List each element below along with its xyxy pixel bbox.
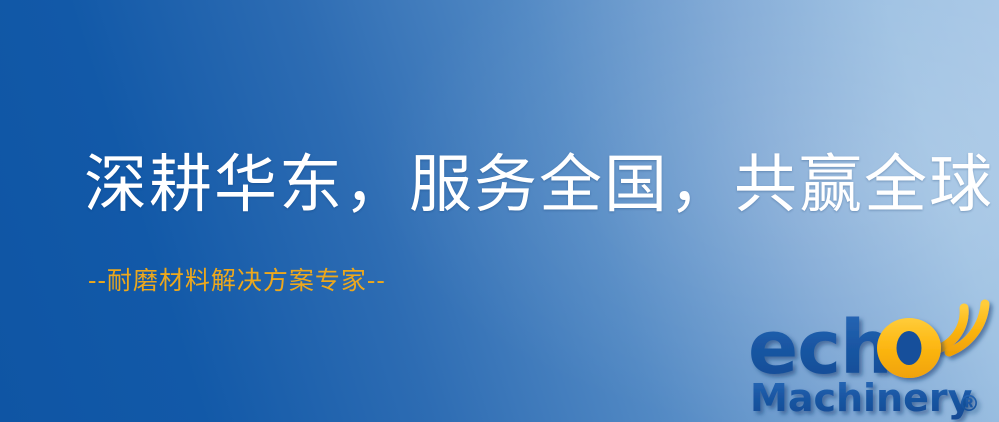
echo-machinery-logo[interactable]: ech Machinery ® — [742, 292, 999, 422]
signal-arcs-icon — [938, 304, 985, 352]
banner-subtitle: --耐磨材料解决方案专家-- — [88, 266, 386, 296]
logo-tagline: Machinery — [750, 376, 973, 420]
banner-headline: 深耕华东，服务全国，共赢全球 — [84, 152, 994, 218]
registered-trademark-icon: ® — [958, 392, 980, 417]
logo-letter-o-gold — [877, 318, 941, 378]
hero-banner: 深耕华东，服务全国，共赢全球 --耐磨材料解决方案专家-- — [0, 0, 999, 422]
